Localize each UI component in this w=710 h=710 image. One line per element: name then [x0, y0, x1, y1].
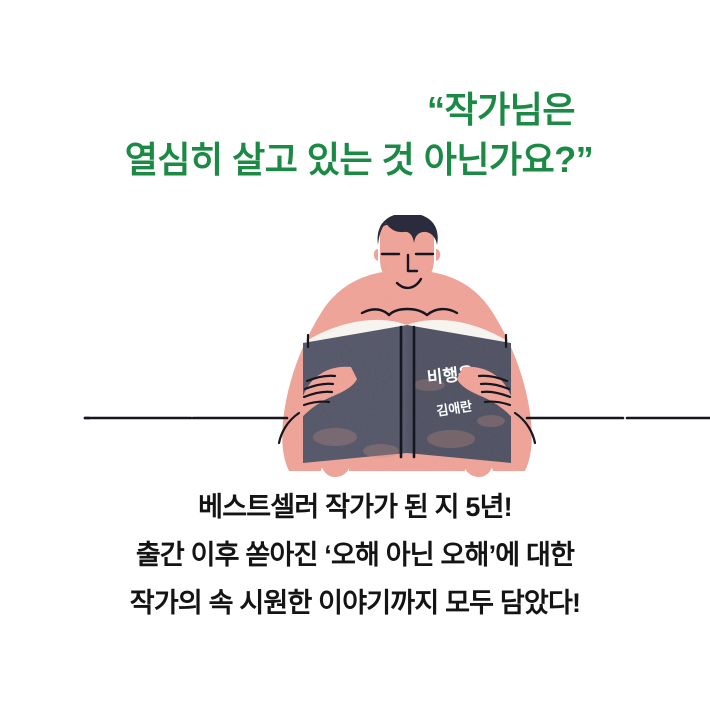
- caption-line-1: 베스트셀러 작가가 된 지 5년!: [0, 494, 710, 521]
- caption-line-3: 작가의 속 시원한 이야기까지 모두 담았다!: [0, 590, 710, 617]
- promo-card: “작가님은 열심히 살고 있는 것 아닌가요?”: [0, 0, 710, 710]
- headline-line-2: 열심히 살고 있는 것 아닌가요?”: [0, 142, 710, 178]
- reading-man-illustration: 비행운 김애란: [0, 215, 710, 480]
- headline-line-1: “작가님은: [0, 92, 710, 128]
- illustration-svg: 비행운 김애란: [0, 215, 710, 480]
- caption-line-2: 출간 이후 쏟아진 ‘오해 아닌 오해’에 대한: [0, 542, 710, 569]
